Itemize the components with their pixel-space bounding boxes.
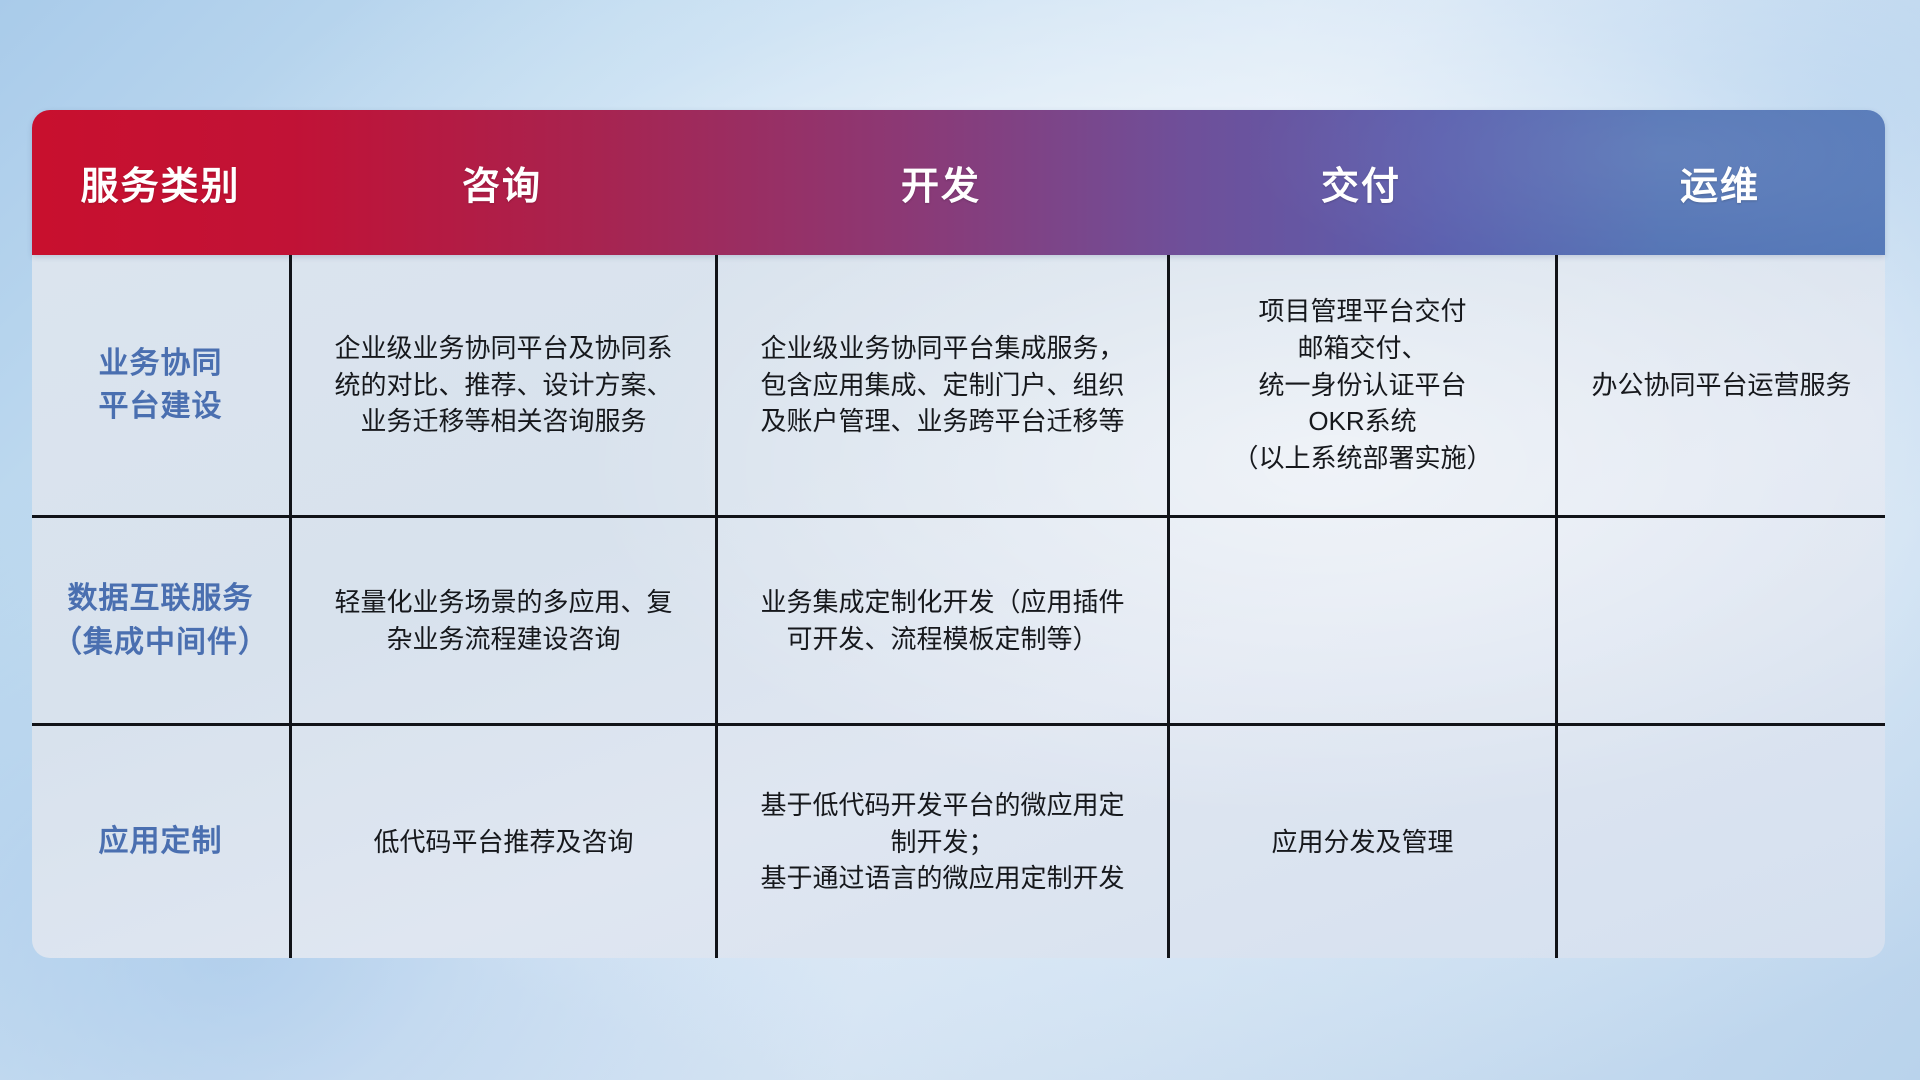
column-header-category: 服务类别: [32, 155, 289, 210]
cell-category: 业务协同 平台建设: [32, 255, 289, 515]
table-header-row: 服务类别 咨询 开发 交付 运维: [32, 110, 1885, 255]
cell-consulting: 低代码平台推荐及咨询: [289, 726, 715, 958]
column-header-development: 开发: [715, 155, 1167, 210]
table-row: 数据互联服务 （集成中间件） 轻量化业务场景的多应用、复 杂业务流程建设咨询 业…: [32, 515, 1885, 723]
table-row: 应用定制 低代码平台推荐及咨询 基于低代码开发平台的微应用定 制开发； 基于通过…: [32, 723, 1885, 958]
service-matrix-table: 服务类别 咨询 开发 交付 运维 业务协同 平台建设 企业级业务协同平台及协同系…: [32, 110, 1885, 958]
cell-category: 应用定制: [32, 726, 289, 958]
cell-development: 企业级业务协同平台集成服务， 包含应用集成、定制门户、组织 及账户管理、业务跨平…: [715, 255, 1167, 515]
cell-operations: [1555, 518, 1885, 723]
cell-development: 基于低代码开发平台的微应用定 制开发； 基于通过语言的微应用定制开发: [715, 726, 1167, 958]
column-header-delivery: 交付: [1167, 155, 1555, 210]
cell-operations: [1555, 726, 1885, 958]
cell-delivery: 应用分发及管理: [1167, 726, 1555, 958]
cell-category: 数据互联服务 （集成中间件）: [32, 518, 289, 723]
table-row: 业务协同 平台建设 企业级业务协同平台及协同系 统的对比、推荐、设计方案、 业务…: [32, 255, 1885, 515]
cell-consulting: 企业级业务协同平台及协同系 统的对比、推荐、设计方案、 业务迁移等相关咨询服务: [289, 255, 715, 515]
column-header-consulting: 咨询: [289, 155, 715, 210]
cell-delivery: 项目管理平台交付 邮箱交付、 统一身份认证平台 OKR系统 （以上系统部署实施）: [1167, 255, 1555, 515]
cell-development: 业务集成定制化开发（应用插件 可开发、流程模板定制等）: [715, 518, 1167, 723]
cell-consulting: 轻量化业务场景的多应用、复 杂业务流程建设咨询: [289, 518, 715, 723]
cell-operations: 办公协同平台运营服务: [1555, 255, 1885, 515]
column-header-operations: 运维: [1555, 155, 1885, 210]
slide-canvas: 服务类别 咨询 开发 交付 运维 业务协同 平台建设 企业级业务协同平台及协同系…: [0, 0, 1920, 1080]
table-body: 业务协同 平台建设 企业级业务协同平台及协同系 统的对比、推荐、设计方案、 业务…: [32, 255, 1885, 958]
cell-delivery: [1167, 518, 1555, 723]
